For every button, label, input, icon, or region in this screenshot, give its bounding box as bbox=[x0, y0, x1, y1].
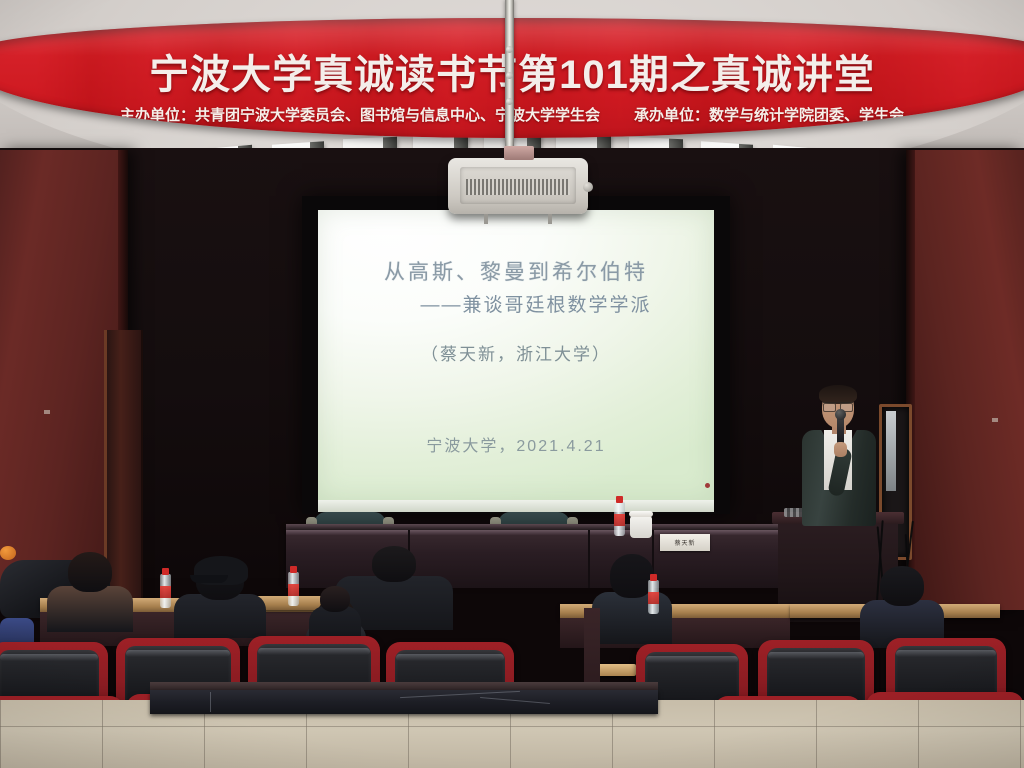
slide-title: 从高斯、黎曼到希尔伯特 bbox=[318, 256, 714, 286]
floor-grout bbox=[918, 700, 919, 768]
projector-icon bbox=[448, 158, 588, 214]
audience-person-body bbox=[174, 594, 266, 638]
banner-organizer: 主办单位：共青团宁波大学委员会、图书馆与信息中心、宁波大学学生会 bbox=[120, 104, 600, 125]
projector-mount bbox=[504, 146, 534, 160]
speaker-figure bbox=[790, 386, 890, 526]
water-bottle bbox=[160, 574, 171, 608]
slide-author: （蔡天新，浙江大学） bbox=[318, 340, 714, 365]
stage-front-panel bbox=[150, 690, 658, 714]
floor-grout bbox=[1020, 700, 1021, 768]
projector-vents bbox=[466, 179, 570, 195]
audience-person-body bbox=[47, 586, 133, 632]
projector-lens-knob bbox=[583, 182, 593, 192]
audience-person-head bbox=[880, 566, 924, 606]
lecture-hall-photo: 宁波大学真诚读书节第101期之真诚讲堂 主办单位：共青团宁波大学委员会、图书馆与… bbox=[0, 0, 1024, 768]
floor-grout bbox=[0, 726, 1024, 727]
audience-person-head bbox=[372, 546, 416, 582]
tea-cup bbox=[630, 516, 652, 538]
audience-person-body bbox=[592, 592, 672, 644]
floor-grout bbox=[816, 700, 817, 768]
water-bottle bbox=[614, 502, 625, 536]
floor-grout bbox=[714, 700, 715, 768]
cap-icon bbox=[194, 556, 248, 585]
speaker-hand bbox=[834, 442, 847, 457]
water-bottle bbox=[288, 572, 299, 606]
audience-person bbox=[68, 552, 112, 638]
projection-screen: 从高斯、黎曼到希尔伯特 ——兼谈哥廷根数学学派 （蔡天新，浙江大学） 宁波大学，… bbox=[318, 210, 714, 500]
floor-grout bbox=[102, 700, 103, 768]
slide-subtitle: ——兼谈哥廷根数学学派 bbox=[318, 290, 714, 317]
screen-corner-marker bbox=[705, 483, 710, 488]
slide-venue-date: 宁波大学，2021.4.21 bbox=[318, 432, 714, 456]
audience-person bbox=[372, 546, 416, 636]
screen-bottom-edge bbox=[318, 500, 714, 512]
support-pole bbox=[505, 0, 514, 150]
water-bottle bbox=[648, 580, 659, 614]
audience-person-head bbox=[68, 552, 112, 592]
banner-host: 承办单位：数学与统计学院团委、学生会 bbox=[634, 104, 904, 125]
projection-screen-frame: 从高斯、黎曼到希尔伯特 ——兼谈哥廷根数学学派 （蔡天新，浙江大学） 宁波大学，… bbox=[302, 196, 730, 514]
audience-person bbox=[196, 560, 244, 644]
audience-person-head bbox=[320, 586, 350, 612]
orange-fruit bbox=[0, 546, 16, 560]
floor-grout bbox=[0, 700, 1, 768]
